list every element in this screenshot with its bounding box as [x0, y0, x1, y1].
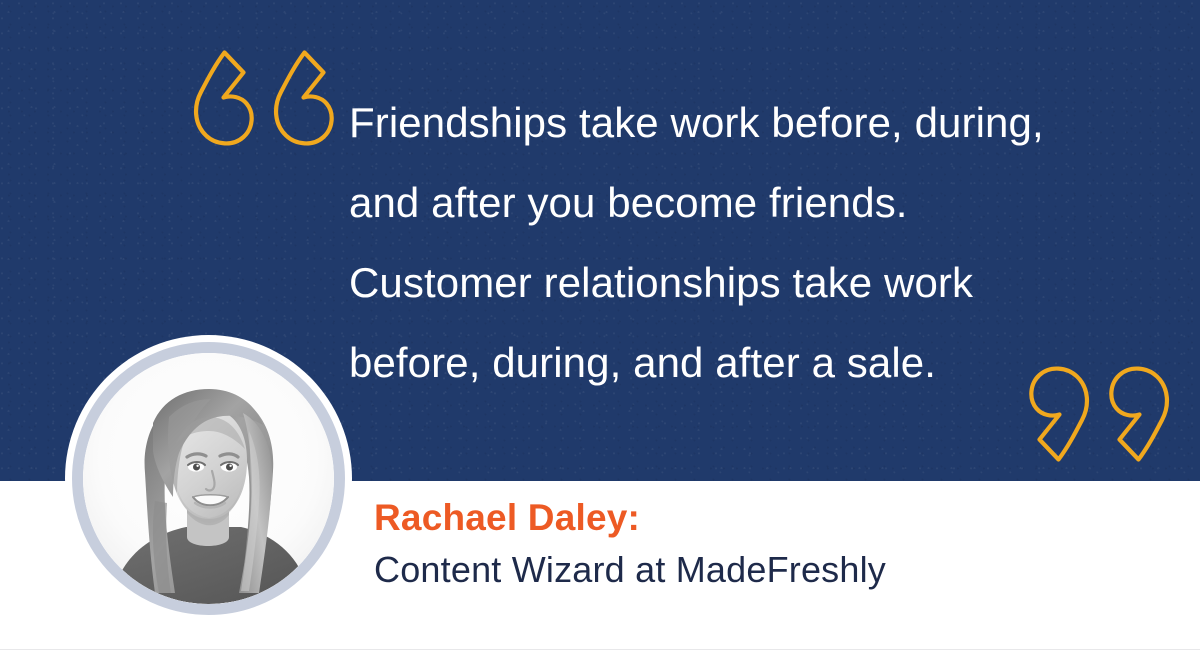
- quote-line-2: and after you become friends.: [349, 163, 1169, 243]
- avatar: [72, 342, 345, 615]
- testimonial-card: Friendships take work before, during, an…: [0, 0, 1200, 650]
- quote-line-1: Friendships take work before, during,: [349, 83, 1169, 163]
- quote-text: Friendships take work before, during, an…: [349, 83, 1169, 403]
- quote-line-3: Customer relationships take work: [349, 243, 1169, 323]
- author-role: Content Wizard at MadeFreshly: [374, 545, 886, 595]
- avatar-photo: [83, 353, 334, 604]
- author-name: Rachael Daley:: [374, 495, 886, 541]
- quote-line-4: before, during, and after a sale.: [349, 323, 1169, 403]
- attribution: Rachael Daley: Content Wizard at MadeFre…: [374, 495, 886, 595]
